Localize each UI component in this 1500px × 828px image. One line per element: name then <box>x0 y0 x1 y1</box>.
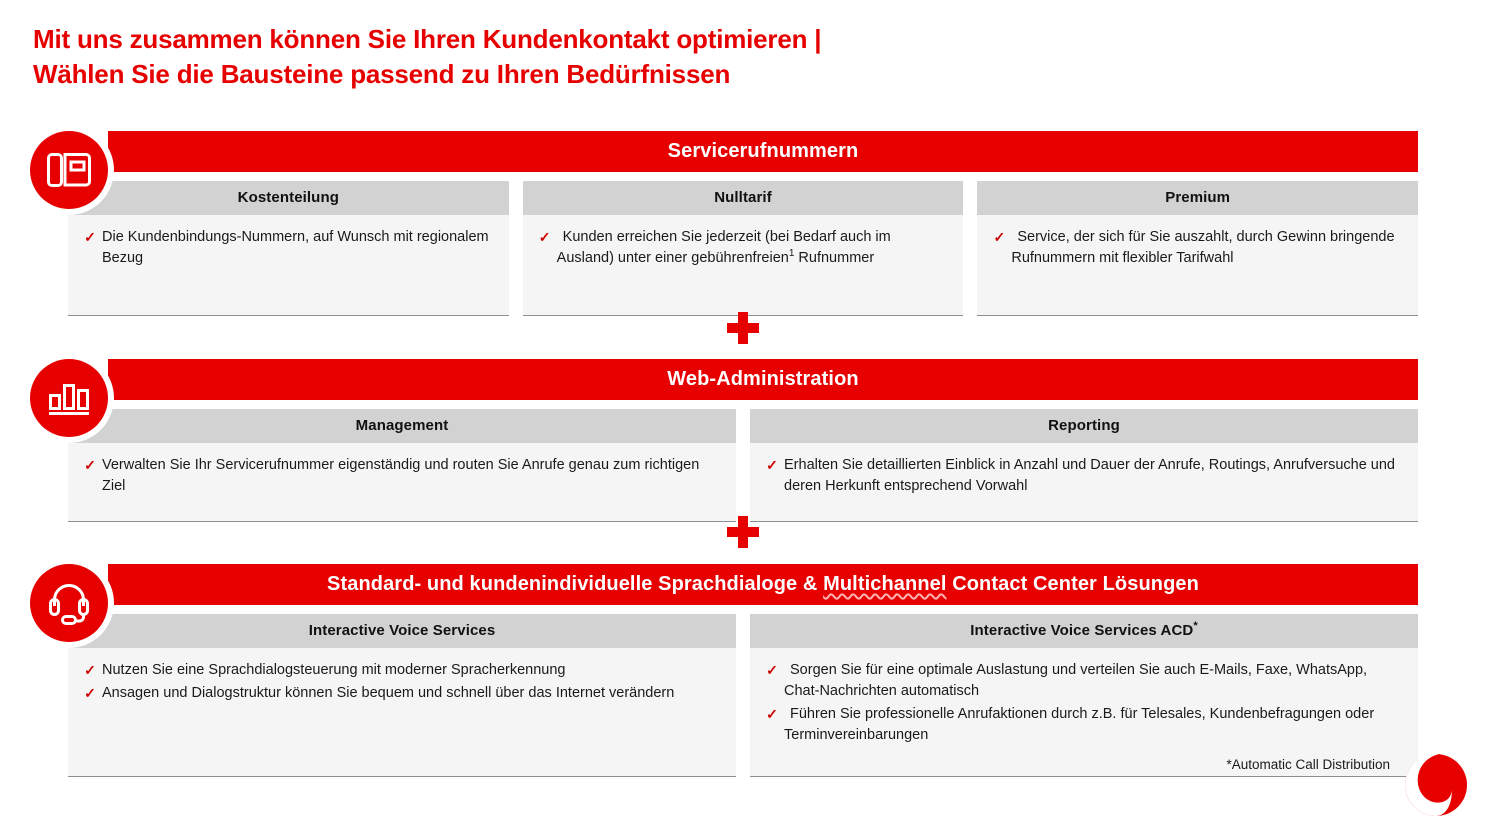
column-head-kostenteilung: Kostenteilung <box>68 181 509 215</box>
list-item-text: Sorgen Sie für eine optimale Auslastung … <box>784 660 1404 702</box>
desk-phone-icon <box>30 131 108 209</box>
headset-icon <box>30 564 108 642</box>
column-body-nulltarif: ✓ Kunden erreichen Sie jederzeit (bei Be… <box>523 215 964 316</box>
header-text-before: Standard- und kundenindividuelle Sprachd… <box>327 573 823 595</box>
column-body-premium: ✓ Service, der sich für Sie auszahlt, du… <box>977 215 1418 316</box>
column-body-management: ✓ Verwalten Sie Ihr Servicerufnummer eig… <box>68 443 736 522</box>
column-interactive-voice-services-acd: Interactive Voice Services ACD* ✓ Sorgen… <box>750 614 1418 777</box>
check-icon: ✓ <box>78 660 102 681</box>
check-icon: ✓ <box>760 455 784 476</box>
list-item-text: Ansagen und Dialogstruktur können Sie be… <box>102 683 722 704</box>
list-item: ✓ Sorgen Sie für eine optimale Auslastun… <box>760 660 1404 702</box>
list-item-text: Verwalten Sie Ihr Servicerufnummer eigen… <box>102 455 722 497</box>
list-item-text: Nutzen Sie eine Sprachdialogsteuerung mi… <box>102 660 722 681</box>
column-kostenteilung: Kostenteilung ✓ Die Kundenbindungs-Numme… <box>68 181 509 316</box>
plus-separator-icon-2 <box>727 516 759 548</box>
list-item: ✓ Verwalten Sie Ihr Servicerufnummer eig… <box>78 455 722 497</box>
check-icon: ✓ <box>987 227 1011 248</box>
column-head-reporting: Reporting <box>750 409 1418 443</box>
column-head-label: Interactive Voice Services ACD <box>970 622 1193 639</box>
column-head-premium: Premium <box>977 181 1418 215</box>
check-icon: ✓ <box>760 704 784 725</box>
columns-sprachdialoge: Interactive Voice Services ✓ Nutzen Sie … <box>68 614 1418 777</box>
plus-separator-icon-1 <box>727 312 759 344</box>
column-head-interactive-voice-services: Interactive Voice Services <box>68 614 736 648</box>
column-body-reporting: ✓ Erhalten Sie detaillierten Einblick in… <box>750 443 1418 522</box>
page-title-line-1: Mit uns zusammen können Sie Ihren Kunden… <box>33 24 821 54</box>
columns-servicerufnummern: Kostenteilung ✓ Die Kundenbindungs-Numme… <box>68 181 1418 316</box>
column-head-interactive-voice-services-acd: Interactive Voice Services ACD* <box>750 614 1418 648</box>
column-premium: Premium ✓ Service, der sich für Sie ausz… <box>977 181 1418 316</box>
list-item: ✓ Führen Sie professionelle Anrufaktione… <box>760 704 1404 746</box>
list-item: ✓ Ansagen und Dialogstruktur können Sie … <box>78 683 722 704</box>
block-header-sprachdialoge: Standard- und kundenindividuelle Sprachd… <box>108 564 1418 605</box>
header-text-spellchecked: Multichannel <box>823 573 946 595</box>
check-icon: ✓ <box>533 227 557 248</box>
list-item-text: Service, der sich für Sie auszahlt, durc… <box>1011 227 1404 269</box>
columns-web-administration: Management ✓ Verwalten Sie Ihr Serviceru… <box>68 409 1418 522</box>
check-icon: ✓ <box>78 455 102 476</box>
bar-chart-icon <box>30 359 108 437</box>
column-body-kostenteilung: ✓ Die Kundenbindungs-Nummern, auf Wunsch… <box>68 215 509 316</box>
header-text-after: Contact Center Lösungen <box>947 573 1199 595</box>
block-header-label: Standard- und kundenindividuelle Sprachd… <box>327 573 1199 596</box>
list-item-text-tail: Rufnummer <box>794 250 874 266</box>
faint-artifact-text <box>150 778 570 788</box>
block-header-servicerufnummern: Servicerufnummern <box>108 131 1418 172</box>
column-interactive-voice-services: Interactive Voice Services ✓ Nutzen Sie … <box>68 614 736 777</box>
column-head-management: Management <box>68 409 736 443</box>
check-icon: ✓ <box>78 683 102 704</box>
list-item: ✓ Erhalten Sie detaillierten Einblick in… <box>760 455 1404 497</box>
check-icon: ✓ <box>760 660 784 681</box>
column-head-nulltarif: Nulltarif <box>523 181 964 215</box>
vodafone-logo <box>1404 753 1468 817</box>
list-item: ✓ Kunden erreichen Sie jederzeit (bei Be… <box>533 227 950 269</box>
page-title: Mit uns zusammen können Sie Ihren Kunden… <box>33 22 1433 91</box>
footnote-text: *Automatic Call Distribution <box>1226 757 1390 772</box>
block-header-web-administration: Web-Administration <box>108 359 1418 400</box>
column-body-interactive-voice-services: ✓ Nutzen Sie eine Sprachdialogsteuerung … <box>68 648 736 777</box>
page-title-line-2: Wählen Sie die Bausteine passend zu Ihre… <box>33 57 1433 92</box>
list-item-text: Kunden erreichen Sie jederzeit (bei Beda… <box>557 227 950 269</box>
column-nulltarif: Nulltarif ✓ Kunden erreichen Sie jederze… <box>523 181 964 316</box>
list-item-text: Die Kundenbindungs-Nummern, auf Wunsch m… <box>102 227 495 269</box>
column-reporting: Reporting ✓ Erhalten Sie detaillierten E… <box>750 409 1418 522</box>
list-item-text: Führen Sie professionelle Anrufaktionen … <box>784 704 1404 746</box>
list-item: ✓ Service, der sich für Sie auszahlt, du… <box>987 227 1404 269</box>
list-item: ✓ Die Kundenbindungs-Nummern, auf Wunsch… <box>78 227 495 269</box>
list-item: ✓ Nutzen Sie eine Sprachdialogsteuerung … <box>78 660 722 681</box>
column-management: Management ✓ Verwalten Sie Ihr Serviceru… <box>68 409 736 522</box>
block-header-label: Servicerufnummern <box>668 140 859 163</box>
list-item-text: Erhalten Sie detaillierten Einblick in A… <box>784 455 1404 497</box>
check-icon: ✓ <box>78 227 102 248</box>
footnote-marker: * <box>1193 620 1197 632</box>
block-header-label: Web-Administration <box>667 368 858 391</box>
